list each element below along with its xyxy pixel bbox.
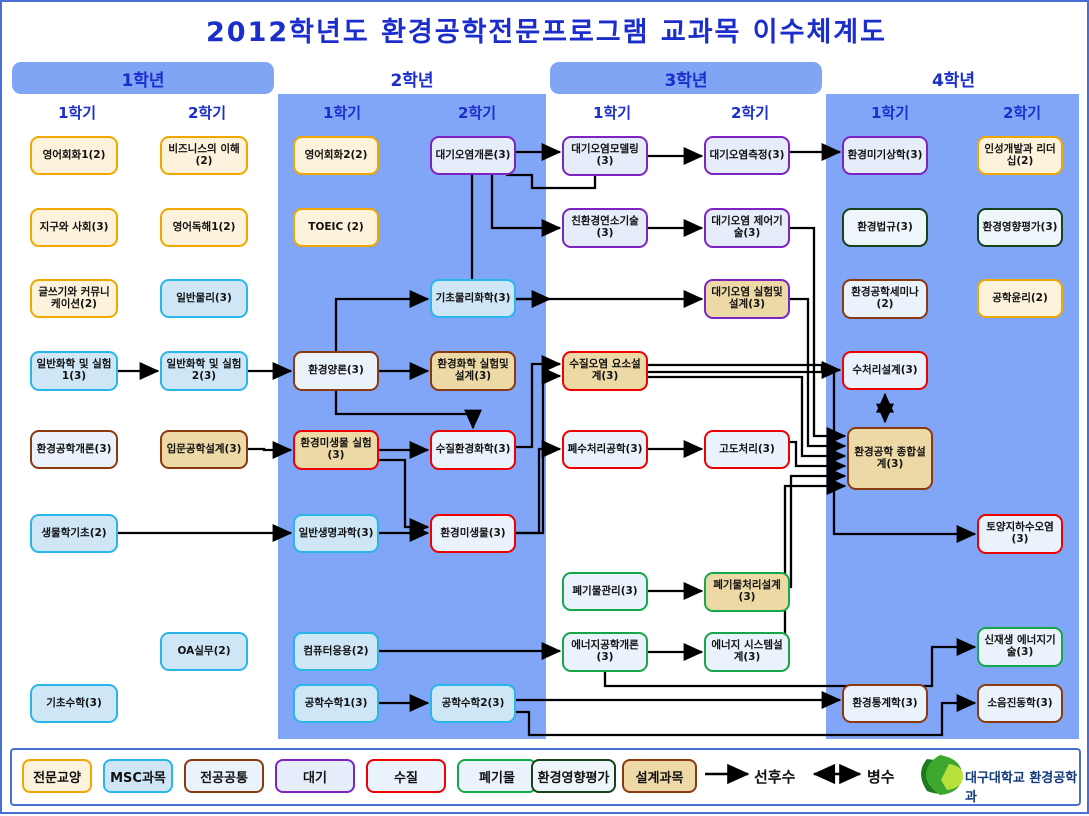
course-node[interactable]: 환경미생물 실험(3): [293, 430, 379, 470]
semester-label-3-1: 1학기: [557, 102, 667, 123]
course-node[interactable]: 수질오염 요소설계(3): [562, 351, 648, 391]
course-node[interactable]: 영어회화1(2): [30, 136, 118, 175]
legend-item: 전공공통: [184, 759, 264, 793]
course-node[interactable]: 공학수학1(3): [293, 684, 379, 723]
year-band-1: 1학년: [12, 62, 274, 94]
course-node[interactable]: 일반물리(3): [160, 279, 248, 318]
course-node[interactable]: 소음진동학(3): [977, 684, 1063, 723]
page-title: 2012학년도 환경공학전문프로그램 교과목 이수체계도: [2, 10, 1089, 49]
course-node[interactable]: 환경양론(3): [293, 351, 379, 391]
course-node[interactable]: 환경화학 실험및설계(3): [430, 351, 516, 391]
course-node[interactable]: 환경영향평가(3): [977, 208, 1063, 247]
course-node[interactable]: 대기오염개론(3): [430, 136, 516, 175]
course-node[interactable]: 입문공학설계(3): [160, 430, 248, 469]
course-node[interactable]: 대기오염모델링(3): [562, 136, 648, 176]
course-node[interactable]: 폐수처리공학(3): [562, 430, 648, 469]
legend-item: 대기: [275, 759, 355, 793]
semester-label-4-1: 1학기: [835, 102, 945, 123]
course-node[interactable]: 수처리설계(3): [842, 351, 928, 390]
course-node[interactable]: 생물학기초(2): [30, 514, 118, 553]
semester-label-1-1: 1학기: [22, 102, 132, 123]
course-node[interactable]: 환경미생물(3): [430, 514, 516, 553]
course-node[interactable]: 공학수학2(3): [430, 684, 516, 723]
course-node[interactable]: 환경공학개론(3): [30, 430, 118, 469]
course-node[interactable]: 일반생명과학(3): [293, 514, 379, 553]
semester-label-1-2: 2학기: [152, 102, 262, 123]
course-node[interactable]: 대기오염측정(3): [704, 136, 790, 175]
semester-label-3-2: 2학기: [695, 102, 805, 123]
course-node[interactable]: 기초수학(3): [30, 684, 118, 723]
legend: 전문교양MSC과목전공공통대기수질폐기물환경영향평가설계과목: [10, 748, 1081, 806]
course-node[interactable]: 에너지공학개론(3): [562, 632, 648, 672]
course-node[interactable]: 폐기물관리(3): [562, 572, 648, 611]
course-node[interactable]: 폐기물처리설계(3): [704, 572, 790, 612]
course-node[interactable]: 글쓰기와 커뮤니케이션(2): [30, 279, 118, 318]
semester-label-2-1: 1학기: [287, 102, 397, 123]
course-node[interactable]: OA실무(2): [160, 632, 248, 671]
legend-item: 폐기물: [457, 759, 537, 793]
legend-item: MSC과목: [103, 759, 173, 793]
course-node[interactable]: 고도처리(3): [704, 430, 790, 469]
legend-item: 수질: [366, 759, 446, 793]
course-node[interactable]: 일반화학 및 실험1(3): [30, 351, 118, 391]
course-node[interactable]: 친환경연소기술(3): [562, 208, 648, 248]
legend-logo-text: 대구대학교 환경공학과: [965, 767, 1087, 805]
course-node[interactable]: 지구와 사회(3): [30, 208, 118, 247]
year-band-3: 3학년: [550, 62, 822, 94]
course-node[interactable]: 인성개발과 리더십(2): [977, 136, 1063, 175]
semester-label-2-2: 2학기: [422, 102, 532, 123]
course-node[interactable]: 환경공학세미나(2): [842, 279, 928, 319]
semester-label-4-2: 2학기: [967, 102, 1077, 123]
course-node[interactable]: 기초물리화학(3): [430, 279, 516, 318]
course-node[interactable]: 신재생 에너지기술(3): [977, 627, 1063, 667]
course-node[interactable]: 대기오염 제어기술(3): [704, 208, 790, 248]
year-band-2: 2학년: [278, 62, 546, 94]
course-node[interactable]: 환경법규(3): [842, 208, 928, 247]
diagram-root: 2012학년도 환경공학전문프로그램 교과목 이수체계도 1학년 2학년 3학년…: [0, 0, 1089, 814]
course-node[interactable]: 영어회화2(2): [293, 136, 379, 175]
course-node[interactable]: 대기오염 실험및설계(3): [704, 279, 790, 319]
course-node[interactable]: 토양지하수오염(3): [977, 514, 1063, 554]
course-node[interactable]: 수질환경화학(3): [430, 430, 516, 470]
legend-item: 환경영향평가: [531, 759, 616, 793]
course-node[interactable]: 에너지 시스템설계(3): [704, 632, 790, 672]
year-band-4: 4학년: [826, 62, 1081, 94]
course-node[interactable]: 환경미기상학(3): [842, 136, 928, 175]
legend-prereq-label: 선후수: [754, 766, 795, 787]
course-node[interactable]: 일반화학 및 실험2(3): [160, 351, 248, 391]
course-node[interactable]: 비즈니스의 이해(2): [160, 136, 248, 175]
course-node[interactable]: 영어독해1(2): [160, 208, 248, 247]
legend-item: 전문교양: [22, 759, 92, 793]
legend-concurrent-label: 병수: [867, 766, 895, 787]
course-node[interactable]: 공학윤리(2): [977, 279, 1063, 318]
course-node[interactable]: TOEIC (2): [293, 208, 379, 247]
course-node[interactable]: 컴퓨터응용(2): [293, 632, 379, 671]
legend-item: 설계과목: [622, 759, 697, 793]
course-node[interactable]: 환경통계학(3): [842, 684, 928, 723]
course-node[interactable]: 환경공학 종합설계(3): [847, 427, 933, 490]
